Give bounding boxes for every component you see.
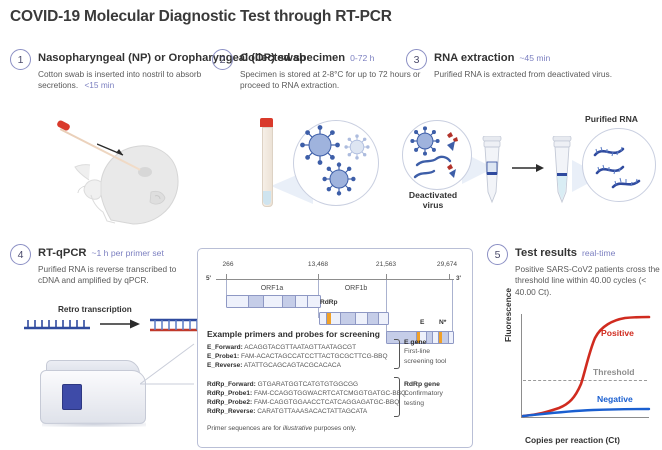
chart-negative-label: Negative [597, 394, 633, 404]
machine-shadow [42, 422, 146, 427]
primer-name: E_Probe1: [207, 353, 239, 360]
genome-tick-4 [449, 274, 450, 280]
rna-extraction-illustration: Deactivated virus [400, 112, 662, 212]
microtube-1-icon [478, 136, 506, 206]
step-2-number: 2 [212, 49, 233, 70]
genome-coord-3: 21,563 [376, 261, 396, 268]
reverse-transcription-arrow-icon [100, 318, 142, 330]
step-1-duration: <15 min [84, 80, 114, 90]
primer-name: E_Forward: [207, 344, 243, 351]
genome-coord-4: 29,674 [437, 261, 457, 268]
machine-to-card-connector [140, 340, 196, 388]
step-4-time: ~1 h per primer set [91, 248, 163, 258]
step-5-header: 5 Test resultsreal-time Positive SARS-Co… [487, 243, 662, 298]
primer-sequence: FAM-ACACTAGCCATCCTTACTGCGCTTCG-BBQ [241, 353, 388, 360]
step-5-title: Test results [515, 247, 577, 259]
chart-positive-label: Positive [601, 328, 634, 338]
insertion-arrow-icon [97, 142, 137, 162]
genome-and-primers-card: 5' 3' 266 13,468 21,563 29,674 ORF1a ORF… [197, 248, 473, 448]
coronavirus-cluster-icon [294, 121, 378, 205]
chart-threshold-label: Threshold [593, 367, 635, 377]
tube-fluid [263, 191, 271, 205]
rdrp-gene-note-line1: Confirmatory [404, 390, 443, 397]
primer-sequence: ACAGGTACGTTAATAGTTAATAGCGT [244, 344, 356, 351]
step-1-description: Cotton swab is inserted into nostril to … [38, 69, 233, 92]
footnote-part-b: purposes only. [312, 425, 356, 432]
step-1-description-text: Cotton swab is inserted into nostril to … [38, 69, 201, 90]
primer-name: RdRp_Probe1: [207, 390, 252, 397]
rdrp-gene-note: RdRp gene Confirmatory testing [404, 380, 443, 408]
step-4-block: 4 RT-qPCR~1 h per primer set Purified RN… [10, 243, 198, 287]
specimen-tube [259, 118, 273, 207]
step-3-description: Purified RNA is extracted from deactivat… [434, 69, 612, 80]
primer-sequence: FAM-CCAGGTGGWACRTCATCMGGTGATGC-BBQ [254, 390, 406, 397]
step-4-number: 4 [10, 244, 31, 265]
infographic-root: COVID-19 Molecular Diagnostic Test throu… [0, 0, 662, 450]
lysed-fragments [447, 132, 458, 170]
primer-name: E_Reverse: [207, 362, 242, 369]
nasal-swab-illustration [45, 120, 195, 225]
machine-body [40, 370, 146, 424]
three-prime-label: 3' [456, 275, 461, 282]
rdrp-gene-brace [394, 377, 400, 417]
primer-name: RdRp_Probe2: [207, 399, 252, 406]
head-silhouette-icon [45, 120, 195, 225]
retro-transcription-label: Retro transcription [58, 305, 132, 314]
chart-x-axis-label: Copies per reaction (Ct) [525, 435, 620, 445]
genome-diagram: 5' 3' 266 13,468 21,563 29,674 ORF1a ORF… [206, 259, 462, 321]
rna-single-strand-icon [22, 318, 94, 332]
purified-rna-magnifier [582, 128, 656, 202]
primer-name: RdRp_Forward: [207, 381, 256, 388]
five-prime-label: 5' [206, 275, 211, 282]
e-gene-note-line1: First-line [404, 348, 430, 355]
orf1b-label: ORF1b [345, 285, 368, 292]
step-3-header: 3 RNA extraction~45 min Purified RNA is … [406, 48, 612, 80]
n-gene-tag: N* [439, 319, 446, 326]
step-1-number: 1 [10, 49, 31, 70]
primer-name: RdRp_Reverse: [207, 408, 255, 415]
purified-rna-label: Purified RNA [585, 114, 638, 124]
deactivated-virus-label: Deactivated virus [398, 190, 468, 210]
step-4-header: 4 RT-qPCR~1 h per primer set Purified RN… [10, 243, 198, 287]
step-3-block: 3 RNA extraction~45 min Purified RNA is … [406, 48, 612, 80]
rdrp-gene-note-title: RdRp gene [404, 380, 443, 389]
genome-coord-1: 266 [222, 261, 233, 268]
step-2-header: 2 Collected specimen0-72 h Specimen is s… [212, 48, 435, 92]
orf1b-bar [319, 312, 389, 325]
qpcr-machine-illustration [40, 358, 148, 430]
page-title: COVID-19 Molecular Diagnostic Test throu… [10, 8, 392, 26]
step-3-time: ~45 min [519, 53, 550, 63]
chart-y-axis-label: Fluorescence [503, 288, 513, 342]
e-gene-note: E gene First-line screening tool [404, 338, 446, 366]
e-gene-brace [394, 339, 400, 369]
step-5-number: 5 [487, 244, 508, 265]
collected-specimen-illustration [253, 118, 393, 213]
genome-coord-2: 13,468 [308, 261, 328, 268]
footnote-part-a: Primer sequences are for [207, 425, 283, 432]
step-5-description: Positive SARS-CoV2 patients cross the th… [515, 264, 662, 298]
primers-footnote: Primer sequences are for illustrative pu… [207, 425, 463, 432]
primer-sequence: GTGARATGGTCATGTGTGGCGG [258, 381, 359, 388]
e-gene-note-title: E gene [404, 338, 446, 347]
primer-row: RdRp_Reverse: CARATGTTAAASACACTATTAGCATA [207, 407, 463, 416]
orf1a-label: ORF1a [261, 285, 284, 292]
step-3-title: RNA extraction [434, 52, 514, 64]
genome-axis [216, 279, 454, 280]
step-5-block: 5 Test resultsreal-time Positive SARS-Co… [487, 243, 662, 298]
amplification-chart: Fluorescence Positive Threshold Negative… [505, 312, 655, 444]
step-2-time: 0-72 h [350, 53, 374, 63]
step-4-description: Purified RNA is reverse transcribed to c… [38, 264, 198, 287]
transfer-arrow-icon [512, 162, 546, 174]
tube-cap [260, 118, 273, 127]
step-5-time: real-time [582, 248, 615, 258]
step-4-title: RT-qPCR [38, 247, 86, 259]
machine-screen [62, 384, 82, 410]
e-gene-note-line2: screening tool [404, 358, 446, 365]
extraction-tube-1 [478, 136, 506, 211]
footnote-emphasis: illustrative [283, 425, 312, 432]
step-2-title: Collected specimen [240, 52, 345, 64]
step-2-block: 2 Collected specimen0-72 h Specimen is s… [212, 48, 435, 92]
primer-sequence: CARATGTTAAASACACTATTAGCATA [257, 408, 367, 415]
orf1a-bar [226, 295, 321, 308]
rna-strands-icon [583, 129, 655, 201]
rdrp-tag: RdRp [320, 299, 338, 306]
deactivated-virus-icon [403, 121, 471, 189]
genome-connector-1 [226, 280, 227, 296]
rdrp-gene-note-line2: testing [404, 400, 424, 407]
e-gene-tag: E [420, 319, 424, 326]
primer-sequence: ATATTGCAGCAGTACGCACACA [244, 362, 341, 369]
primer-sequence: FAM-CAGGTGGAACCTCATCAGGAGATGC-BBQ [254, 399, 399, 406]
virus-magnifier-circle [293, 120, 379, 206]
deactivated-virus-magnifier [402, 120, 472, 190]
step-3-number: 3 [406, 49, 427, 70]
